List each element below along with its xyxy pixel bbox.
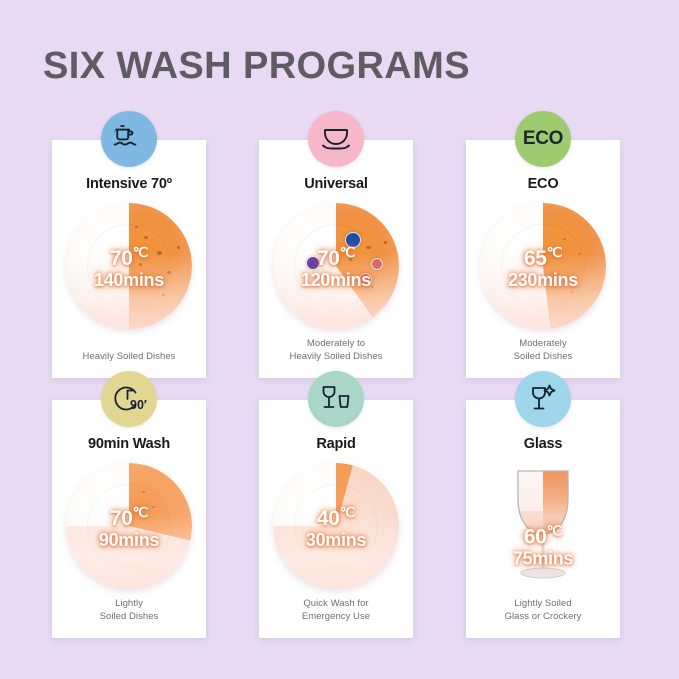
plate-visual-universal: 70℃ 120mins [273, 203, 399, 329]
program-card-grid: Intensive 70º [52, 140, 636, 638]
plate-shape [66, 463, 192, 589]
svg-text:90′: 90′ [130, 398, 147, 412]
wineglass-shape [480, 463, 606, 589]
program-card-universal[interactable]: Universal [259, 140, 413, 378]
badge-90min: 90′ [101, 371, 157, 427]
soil-marker-blue [345, 232, 361, 248]
badge-universal [308, 111, 364, 167]
program-title: ECO [528, 177, 559, 193]
clock-90-icon: 90′ [111, 383, 147, 415]
program-title: Rapid [316, 437, 355, 453]
plate-shape [66, 203, 192, 329]
program-title: Intensive 70º [86, 177, 172, 193]
soil-marker-purple [306, 256, 320, 270]
plate-visual-rapid: 40℃ 30mins [273, 463, 399, 589]
program-caption: Quick Wash for Emergency Use [267, 598, 405, 624]
plate-visual-intensive: 70℃ 140mins [66, 203, 192, 329]
program-card-glass[interactable]: Glass [466, 400, 620, 638]
badge-glass [515, 371, 571, 427]
badge-eco: ECO [515, 111, 571, 167]
eco-text-icon: ECO [523, 128, 563, 150]
badge-intensive [101, 111, 157, 167]
wine-glass-sparkle-icon [527, 383, 559, 415]
program-card-rapid[interactable]: Rapid 40℃ 30mins Quic [259, 400, 413, 638]
program-caption: Heavily Soiled Dishes [60, 351, 198, 364]
program-card-eco[interactable]: ECO ECO 65℃ 230mins [466, 140, 620, 378]
program-title: Universal [304, 177, 368, 193]
wineglass-visual-glass: 60℃ 75mins [480, 463, 606, 589]
program-caption: Moderately to Heavily Soiled Dishes [267, 338, 405, 364]
program-title: Glass [524, 437, 563, 453]
program-card-90min-wash[interactable]: 90′ 90min Wash [52, 400, 206, 638]
pot-icon [113, 124, 145, 154]
program-caption: Moderately Soiled Dishes [474, 338, 612, 364]
plate-visual-90min: 70℃ 90mins [66, 463, 192, 589]
plate-shape [480, 203, 606, 329]
glass-and-tumbler-icon [319, 384, 353, 414]
program-card-intensive[interactable]: Intensive 70º [52, 140, 206, 378]
plate-shape [273, 203, 399, 329]
program-title: 90min Wash [88, 437, 170, 453]
program-caption: Lightly Soiled Glass or Crockery [474, 598, 612, 624]
bowl-icon [320, 126, 352, 152]
page-title: SIX WASH PROGRAMS [43, 47, 470, 85]
program-caption: Lightly Soiled Dishes [60, 598, 198, 624]
plate-visual-eco: 65℃ 230mins [480, 203, 606, 329]
badge-rapid [308, 371, 364, 427]
wash-programs-infographic: SIX WASH PROGRAMS Intensive 70º [0, 0, 679, 679]
plate-shape [273, 463, 399, 589]
